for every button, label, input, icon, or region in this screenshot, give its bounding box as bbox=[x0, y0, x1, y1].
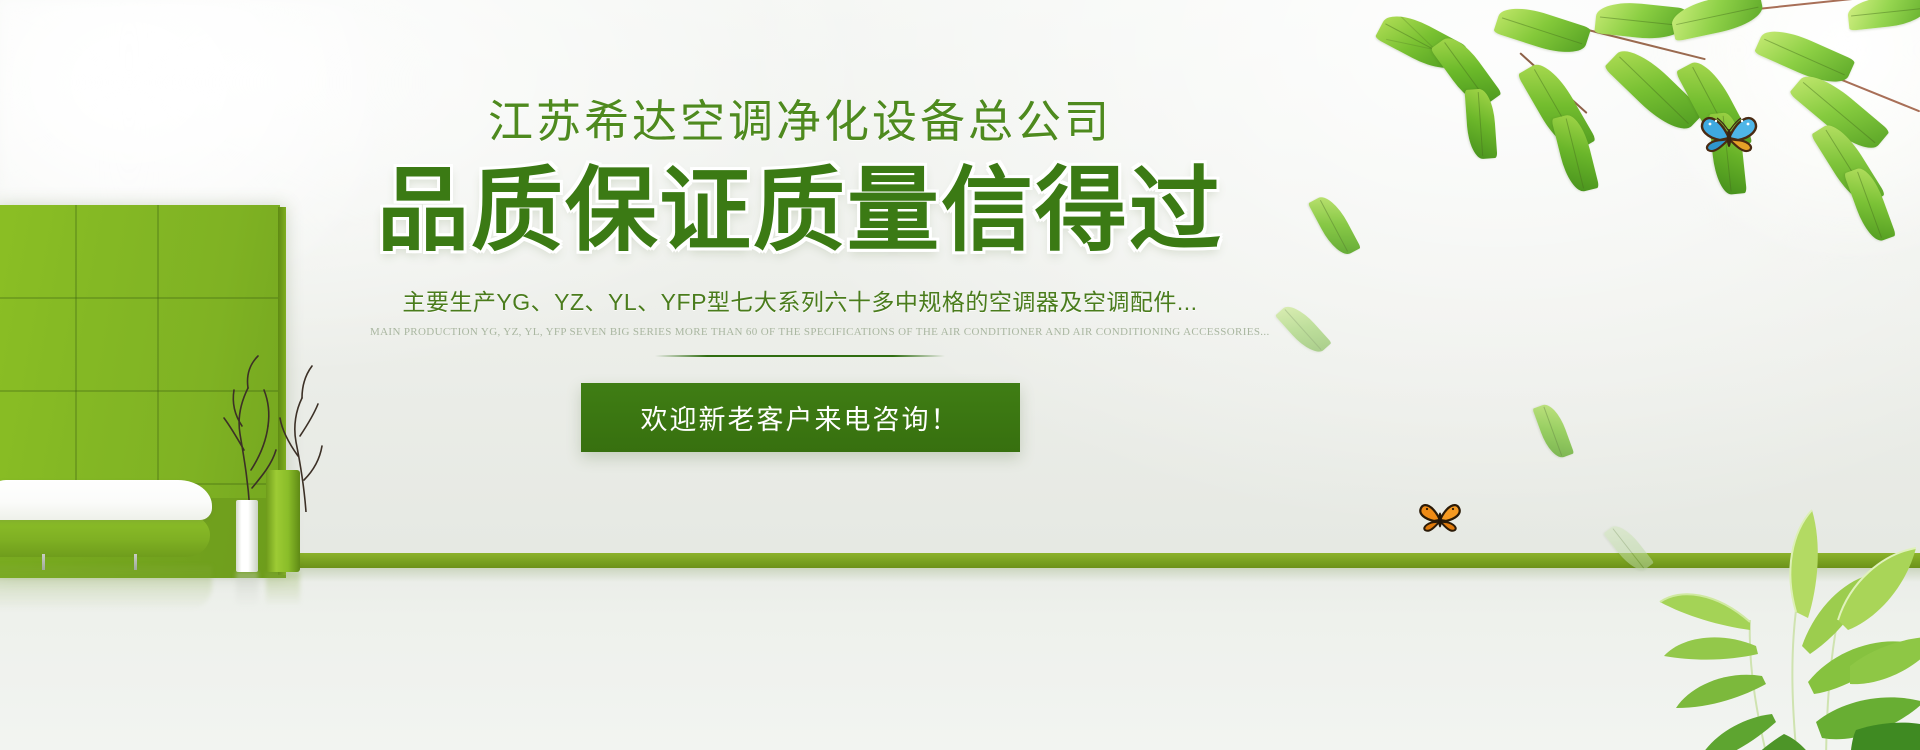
hero-text-block: 江苏希达空调净化设备总公司 品质保证质量信得过 主要生产YG、YZ、YL、YFP… bbox=[370, 96, 1230, 452]
contact-cta-button[interactable]: 欢迎新老客户来电咨询！ bbox=[581, 383, 1020, 452]
green-vase bbox=[266, 470, 300, 572]
white-vase-reflection bbox=[236, 572, 258, 606]
subtitle-english: MAIN PRODUCTION YG, YZ, YL, YFP SEVEN BI… bbox=[370, 326, 1230, 338]
blue-butterfly bbox=[1700, 112, 1758, 163]
divider-line bbox=[655, 355, 945, 357]
orange-butterfly bbox=[1418, 500, 1462, 541]
white-vase bbox=[236, 500, 258, 572]
potted-plant-bottom-right bbox=[1520, 470, 1920, 750]
sofa-cushion bbox=[0, 480, 212, 520]
subtitle-chinese: 主要生产YG、YZ、YL、YFP型七大系列六十多中规格的空调器及空调配件... bbox=[370, 283, 1230, 317]
green-vase-reflection bbox=[266, 572, 300, 606]
sofa-reflection bbox=[0, 566, 212, 610]
headline-slogan: 品质保证质量信得过 bbox=[370, 162, 1230, 261]
white-green-sofa bbox=[0, 480, 214, 572]
hero-banner: 江苏希达空调净化设备总公司 品质保证质量信得过 主要生产YG、YZ、YL、YFP… bbox=[0, 0, 1920, 750]
company-name: 江苏希达空调净化设备总公司 bbox=[370, 96, 1230, 148]
